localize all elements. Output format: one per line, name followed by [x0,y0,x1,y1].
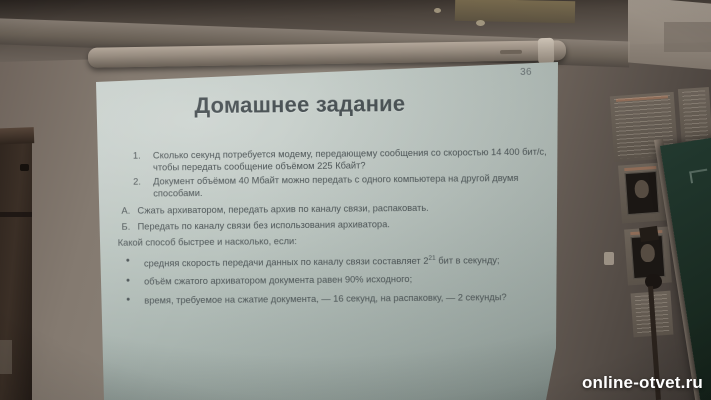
list-item: • время, требуемое на сжатие документа, … [112,290,564,307]
list-marker: 1. [133,150,141,162]
list-marker: А. [121,204,130,216]
ceiling-lamp-fixture [476,20,485,26]
watermark: online-otvet.ru [582,373,703,393]
list-item-text: средняя скорость передачи данных по кана… [144,256,429,269]
cabinet-knob [20,164,29,171]
wall-panel-right-inner [664,22,711,52]
bullet-icon: • [126,255,130,267]
cabinet-shelf [0,212,32,217]
classroom-photo: 36 Домашнее задание 1. Сколько секунд по… [0,0,711,400]
exponent: 21 [428,255,435,262]
presentation-slide: 36 Домашнее задание 1. Сколько секунд по… [96,58,565,400]
portrait-photo-1 [625,171,660,215]
wall-socket [604,252,614,265]
list-marker: 2. [133,175,141,187]
list-item-text: объём сжатого архиватором документа раве… [144,274,412,287]
bullet-icon: • [126,275,130,287]
list-item: Б. Передать по каналу связи без использо… [112,217,564,234]
portrait-photo-2 [631,235,666,279]
list-item: А. Сжать архиватором, передать архив по … [111,200,563,217]
bullet-icon: • [126,293,130,305]
cabinet-top [0,127,34,145]
projection-screen-roller-slot [500,50,522,54]
cabinet-glass-pane [0,340,12,374]
list-item-text: время, требуемое на сжатие документа, — … [144,292,506,305]
slide-number: 36 [520,67,532,78]
question-lead-line: Какой способ быстрее и насколько, если: [112,233,564,250]
list-item: • объём сжатого архиватором документа ра… [112,272,564,289]
list-item-text: Документ объёмом 40 Мбайт можно передать… [153,173,518,199]
ceiling-lamp-fixture-secondary [434,8,441,13]
slide-body: 1. Сколько секунд потребуется модему, пе… [111,146,564,307]
list-item: 2. Документ объёмом 40 Мбайт можно перед… [111,171,563,200]
list-item-text: Сколько секунд потребуется модему, перед… [153,147,547,173]
chalkboard-bracket [639,226,659,242]
list-item: • средняя скорость передачи данных по ка… [112,251,564,270]
list-item-text-tail: бит в секунду; [436,255,500,266]
list-marker: Б. [122,221,131,233]
list-item: 1. Сколько секунд потребуется модему, пе… [111,146,563,175]
slide-title: Домашнее задание [194,91,405,119]
list-item-text: Передать по каналу связи без использован… [138,219,390,231]
ceiling-lamp [455,0,575,23]
list-item-text: Сжать архиватором, передать архив по кан… [137,202,428,215]
